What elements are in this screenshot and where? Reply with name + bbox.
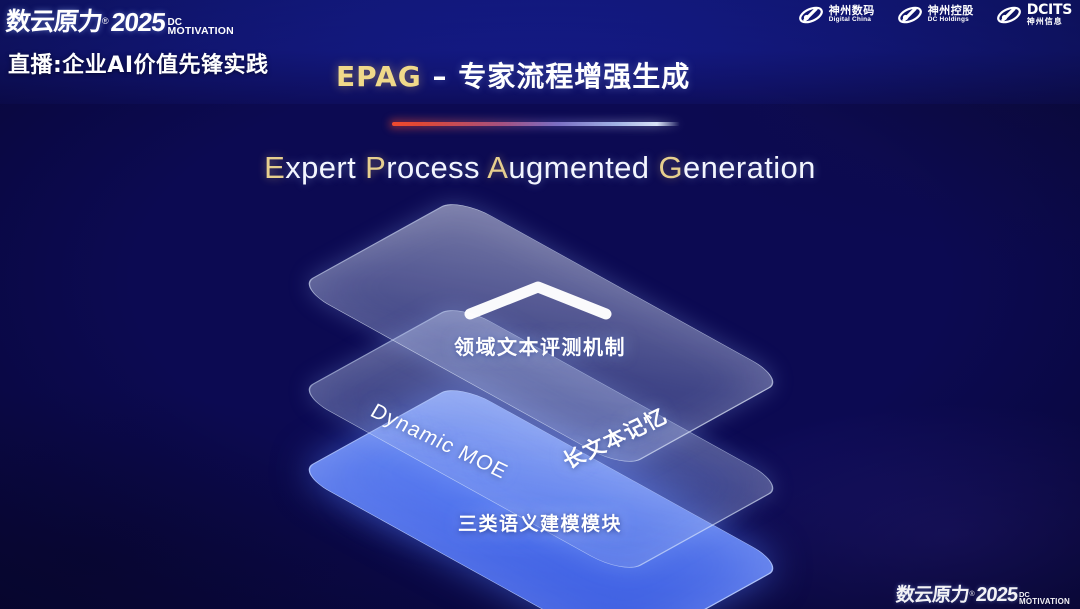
title-en-cap-g: G bbox=[658, 150, 683, 185]
swoosh-logo-icon bbox=[996, 4, 1022, 26]
event-logo-motivation-word: MOTIVATION bbox=[168, 27, 234, 37]
partner-logos: 神州数码 Digital China 神州控股 DC Holdings bbox=[798, 3, 1072, 26]
partner-name-en: DCITS bbox=[1027, 3, 1072, 18]
title-en-rest-expert: xpert bbox=[285, 150, 365, 185]
footer-watermark-logo: 数云原力 ® 2025 DC MOTIVATION bbox=[896, 580, 1070, 607]
partner-logo-text: 神州数码 Digital China bbox=[829, 5, 875, 23]
swoosh-logo-icon bbox=[897, 4, 923, 26]
title-en-cap-p: P bbox=[365, 150, 386, 185]
partner-logo-dcits: DCITS 神州信息 bbox=[996, 3, 1072, 26]
event-logo: 数云原力 ® 2025 DC MOTIVATION bbox=[6, 2, 234, 38]
title-en-cap-e: E bbox=[264, 150, 285, 185]
partner-logo-text: DCITS 神州信息 bbox=[1027, 3, 1072, 26]
watermark-motivation: DC MOTIVATION bbox=[1019, 591, 1070, 606]
watermark-brand-cn: 数云原力 bbox=[895, 580, 970, 607]
partner-logo-digital-china: 神州数码 Digital China bbox=[798, 4, 875, 26]
event-logo-year: 2025 bbox=[109, 7, 166, 38]
slide-title: EPAG – 专家流程增强生成 bbox=[336, 55, 690, 95]
watermark-registered-mark: ® bbox=[970, 591, 975, 598]
slide-canvas: 数云原力 ® 2025 DC MOTIVATION 直播:企业AI价值先锋实践 … bbox=[0, 0, 1080, 609]
partner-name-cn: 神州信息 bbox=[1027, 18, 1072, 26]
title-en-rest-generation: eneration bbox=[683, 150, 816, 185]
partner-logo-dc-holdings: 神州控股 DC Holdings bbox=[897, 4, 974, 26]
event-logo-brand-cn: 数云原力 bbox=[4, 2, 103, 38]
swoosh-logo-icon bbox=[798, 4, 824, 26]
event-logo-registered-mark: ® bbox=[102, 16, 109, 26]
title-chinese: 专家流程增强生成 bbox=[458, 60, 690, 93]
livestream-subtitle: 直播:企业AI价值先锋实践 bbox=[8, 47, 269, 79]
watermark-motivation-word: MOTIVATION bbox=[1019, 598, 1070, 606]
title-acronym: EPAG bbox=[336, 60, 422, 93]
partner-name-en: Digital China bbox=[829, 17, 875, 24]
title-en-cap-a: A bbox=[487, 150, 508, 185]
partner-logo-text: 神州控股 DC Holdings bbox=[928, 5, 974, 23]
event-logo-motivation: DC MOTIVATION bbox=[168, 18, 234, 37]
title-divider bbox=[392, 122, 680, 126]
title-english-expansion: Expert Process Augmented Generation bbox=[0, 150, 1080, 186]
partner-name-en: DC Holdings bbox=[928, 17, 974, 24]
title-en-rest-process: rocess bbox=[386, 150, 487, 185]
title-dash: – bbox=[422, 60, 459, 93]
title-en-rest-augmented: ugmented bbox=[508, 150, 658, 185]
watermark-year: 2025 bbox=[974, 584, 1018, 607]
